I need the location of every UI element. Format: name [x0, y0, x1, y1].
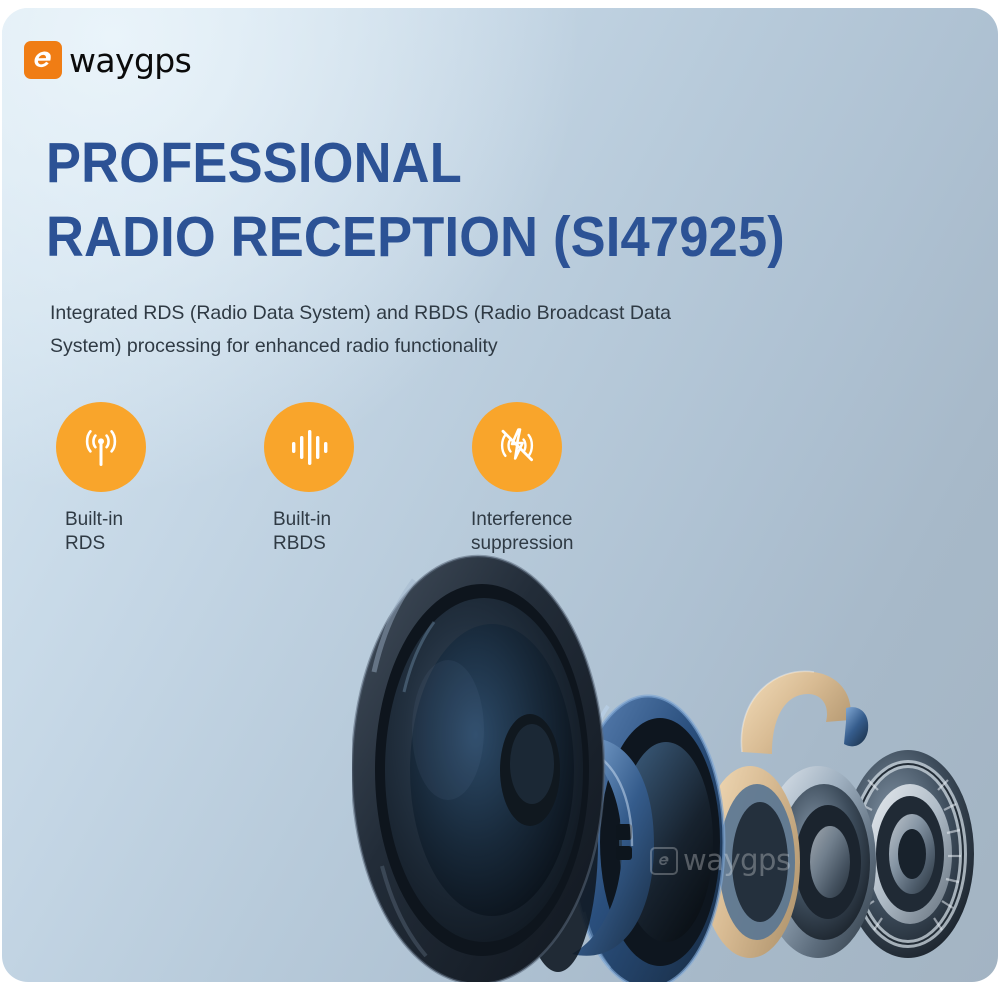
- exploded-speaker-driver-render: [352, 542, 998, 982]
- feature-list: Built-in RDS Built-in RBDS: [55, 402, 679, 556]
- waygps-e-monogram-icon: [24, 41, 62, 79]
- feature-item-rds: Built-in RDS: [55, 402, 263, 556]
- broadcast-antenna-icon: [56, 402, 146, 492]
- waygps-e-monogram-icon: [650, 847, 678, 875]
- watermark-text: waygps: [683, 846, 791, 875]
- promo-card: waygps PROFESSIONAL RADIO RECEPTION (SI4…: [2, 8, 998, 982]
- headline-line-1: PROFESSIONAL: [46, 126, 785, 200]
- brand-logo[interactable]: waygps: [24, 41, 191, 79]
- feature-label-rds: Built-in RDS: [65, 508, 123, 556]
- audio-waveform-icon: [264, 402, 354, 492]
- promo-banner: waygps PROFESSIONAL RADIO RECEPTION (SI4…: [0, 0, 1000, 996]
- feature-item-rbds: Built-in RBDS: [263, 402, 471, 556]
- headline-line-2: RADIO RECEPTION (SI47925): [46, 200, 785, 274]
- subtitle-text: Integrated RDS (Radio Data System) and R…: [50, 297, 740, 363]
- brand-name: waygps: [69, 44, 191, 77]
- feature-item-interference: Interference suppression: [471, 402, 679, 556]
- feature-label-interference: Interference suppression: [471, 508, 573, 556]
- feature-label-rbds: Built-in RBDS: [273, 508, 331, 556]
- image-watermark: waygps: [650, 846, 791, 875]
- interference-blocked-icon: [472, 402, 562, 492]
- page-title: PROFESSIONAL RADIO RECEPTION (SI47925): [46, 126, 849, 274]
